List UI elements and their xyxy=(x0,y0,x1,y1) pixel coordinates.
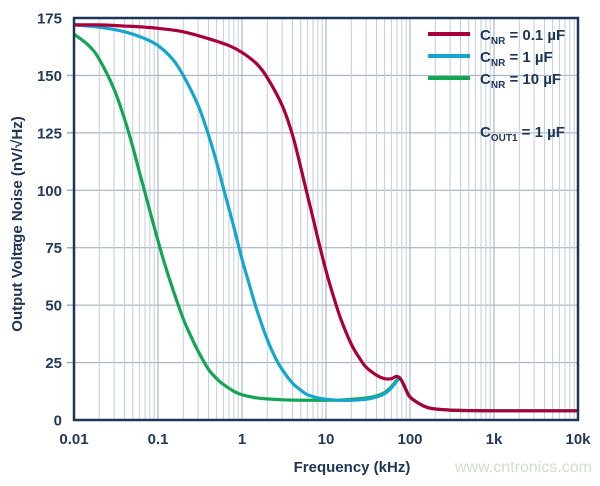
x-tick-label: 0.1 xyxy=(148,431,169,448)
svg-text:Output Voltage Noise (nV/√Hz): Output Voltage Noise (nV/√Hz) xyxy=(9,116,26,331)
chart-container: 0255075100125150175 0.010.11101001k10k O… xyxy=(0,0,600,486)
y-axis-title-main: Output Voltage Noise (nV/ xyxy=(9,147,26,332)
y-tick-label: 100 xyxy=(37,183,62,200)
noise-chart-svg: 0255075100125150175 0.010.11101001k10k O… xyxy=(0,0,600,486)
y-tick-label: 150 xyxy=(37,68,62,85)
y-axis-title: Output Voltage Noise (nV/√Hz) xyxy=(9,116,26,331)
watermark-text: www.cntronics.com xyxy=(454,459,592,476)
y-tick-label: 0 xyxy=(54,413,62,430)
y-tick-label: 50 xyxy=(45,298,62,315)
y-tick-label: 125 xyxy=(37,125,62,142)
x-tick-label: 10k xyxy=(565,431,591,448)
y-tick-label: 25 xyxy=(45,355,62,372)
x-tick-label: 0.01 xyxy=(59,431,88,448)
x-tick-label: 1 xyxy=(238,431,246,448)
x-tick-label: 100 xyxy=(397,431,422,448)
x-axis-title: Frequency (kHz) xyxy=(294,459,411,476)
x-tick-label: 1k xyxy=(486,431,503,448)
x-tick-label: 10 xyxy=(318,431,335,448)
y-axis-title-unit: Hz) xyxy=(9,116,26,139)
y-tick-label: 175 xyxy=(37,11,62,28)
y-tick-label: 75 xyxy=(45,240,62,257)
